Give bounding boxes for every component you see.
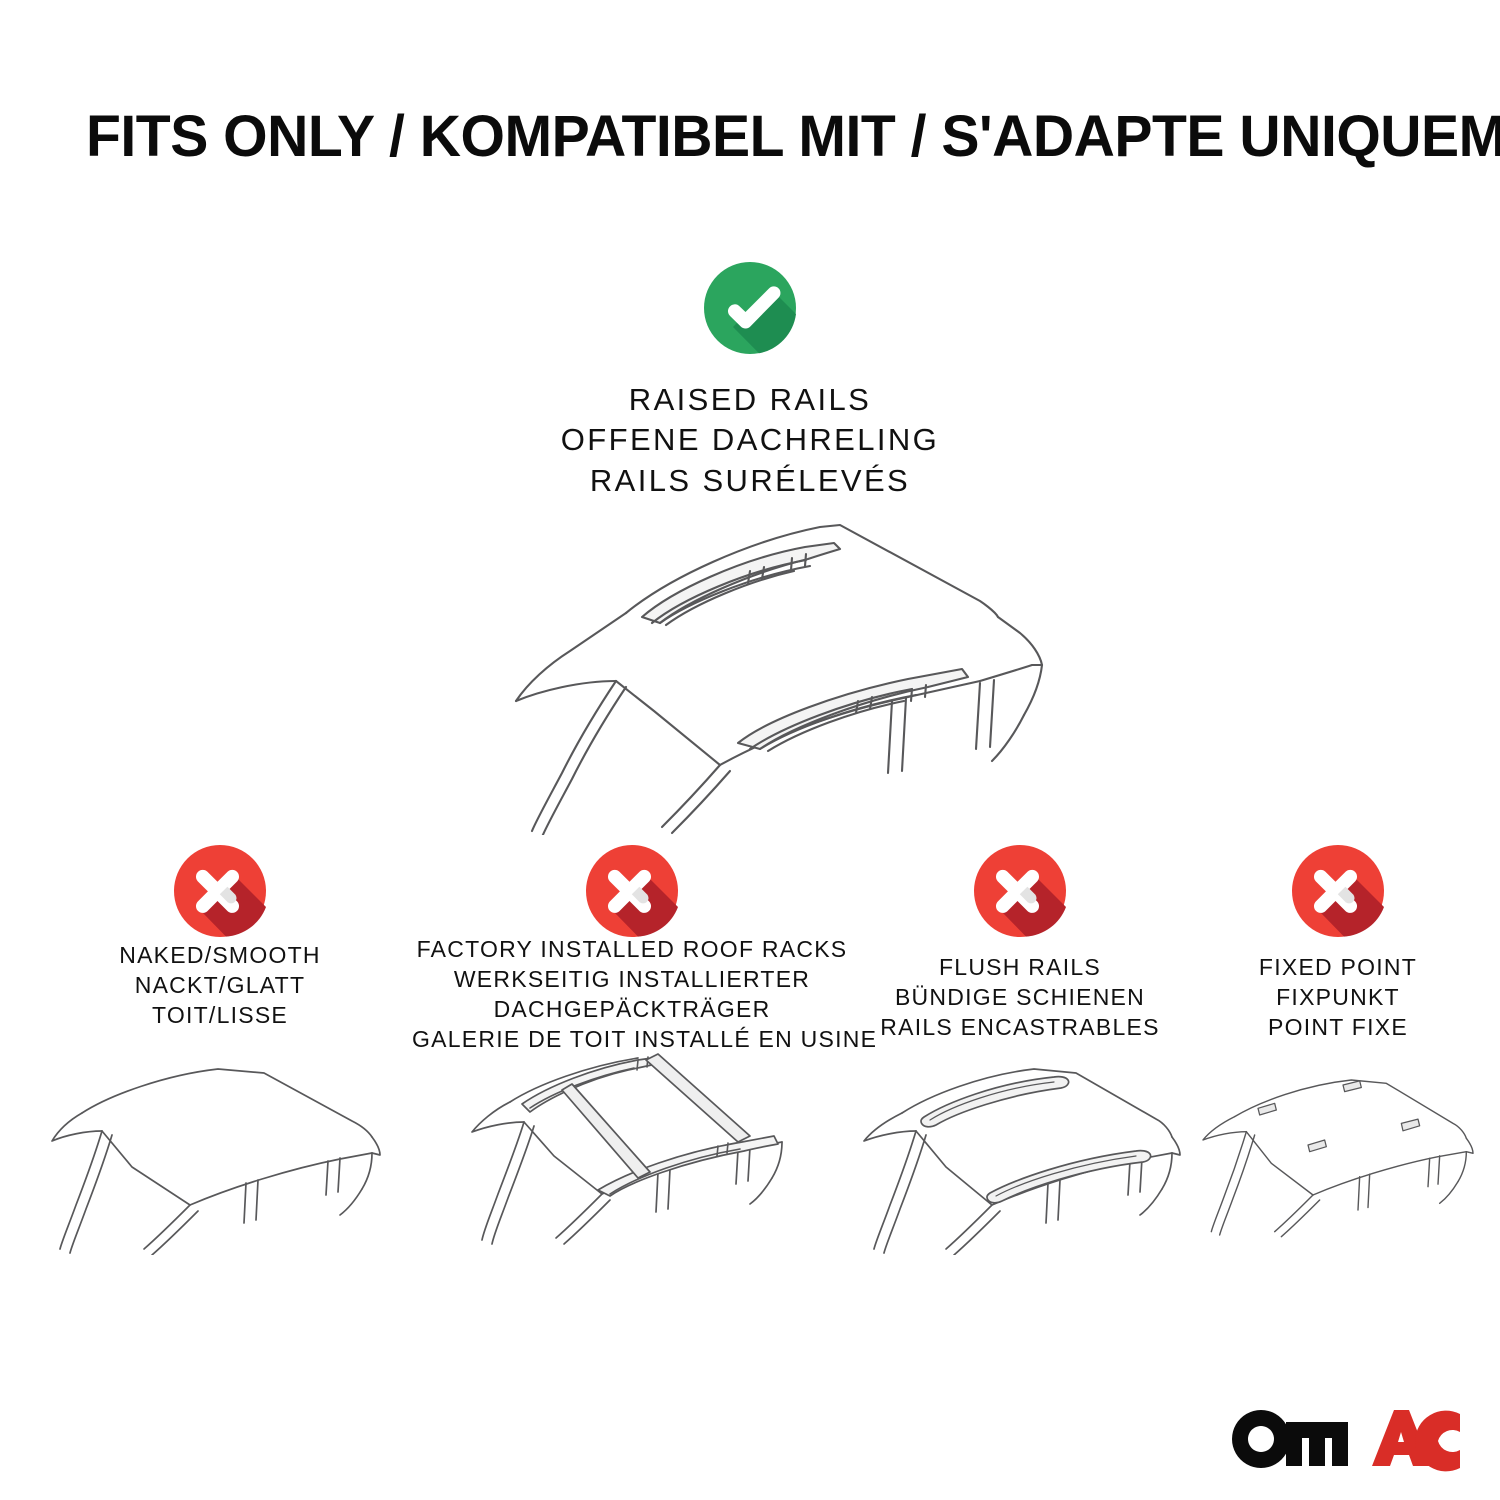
x-circle-icon bbox=[174, 845, 266, 937]
car-roof-raised-rails-illustration bbox=[420, 505, 1100, 835]
label-line-fr: POINT FIXE bbox=[1188, 1013, 1488, 1043]
incompatible-item-factory-roof-racks: FACTORY INSTALLED ROOF RACKS WERKSEITIG … bbox=[412, 845, 852, 1315]
car-roof-naked-illustration bbox=[20, 1055, 420, 1255]
check-circle-icon bbox=[704, 262, 796, 354]
x-circle-icon bbox=[586, 845, 678, 937]
label-line-de-2: DACHGEPÄCKTRÄGER bbox=[412, 995, 852, 1025]
label-line-de: FIXPUNKT bbox=[1188, 983, 1488, 1013]
omac-logo bbox=[1232, 1408, 1460, 1474]
car-roof-fixed-point-illustration bbox=[1188, 1055, 1488, 1255]
label-line-en: FACTORY INSTALLED ROOF RACKS bbox=[412, 935, 852, 965]
label-line-de-1: WERKSEITIG INSTALLIERTER bbox=[412, 965, 852, 995]
compatible-label-line-de: OFFENE DACHRELING bbox=[350, 420, 1150, 460]
incompatible-item-flush-rails: FLUSH RAILS BÜNDIGE SCHIENEN RAILS ENCAS… bbox=[840, 845, 1200, 1315]
incompatible-label-naked-smooth: NAKED/SMOOTH NACKT/GLATT TOIT/LISSE bbox=[20, 941, 420, 1031]
compatible-label-line-en: RAISED RAILS bbox=[350, 380, 1150, 420]
incompatible-item-naked-smooth: NAKED/SMOOTH NACKT/GLATT TOIT/LISSE bbox=[20, 845, 420, 1315]
label-line-fr: TOIT/LISSE bbox=[20, 1001, 420, 1031]
incompatible-label-factory-roof-racks: FACTORY INSTALLED ROOF RACKS WERKSEITIG … bbox=[412, 935, 852, 1055]
compatible-label: RAISED RAILS OFFENE DACHRELING RAILS SUR… bbox=[350, 380, 1150, 501]
incompatible-label-fixed-point: FIXED POINT FIXPUNKT POINT FIXE bbox=[1188, 953, 1488, 1043]
label-line-en: FLUSH RAILS bbox=[840, 953, 1200, 983]
car-roof-flush-rails-illustration bbox=[840, 1055, 1200, 1255]
compatible-label-line-fr: RAILS SURÉLEVÉS bbox=[350, 461, 1150, 501]
incompatible-label-flush-rails: FLUSH RAILS BÜNDIGE SCHIENEN RAILS ENCAS… bbox=[840, 953, 1200, 1043]
label-line-fr: RAILS ENCASTRABLES bbox=[840, 1013, 1200, 1043]
car-roof-factory-racks-illustration bbox=[412, 1050, 852, 1255]
incompatible-section: NAKED/SMOOTH NACKT/GLATT TOIT/LISSE bbox=[0, 845, 1500, 1325]
label-line-en: FIXED POINT bbox=[1188, 953, 1488, 983]
x-circle-icon bbox=[974, 845, 1066, 937]
page-title: FITS ONLY / KOMPATIBEL MIT / S'ADAPTE UN… bbox=[86, 108, 1406, 166]
label-line-de: BÜNDIGE SCHIENEN bbox=[840, 983, 1200, 1013]
x-circle-icon bbox=[1292, 845, 1384, 937]
label-line-de: NACKT/GLATT bbox=[20, 971, 420, 1001]
label-line-en: NAKED/SMOOTH bbox=[20, 941, 420, 971]
incompatible-item-fixed-point: FIXED POINT FIXPUNKT POINT FIXE bbox=[1188, 845, 1488, 1315]
